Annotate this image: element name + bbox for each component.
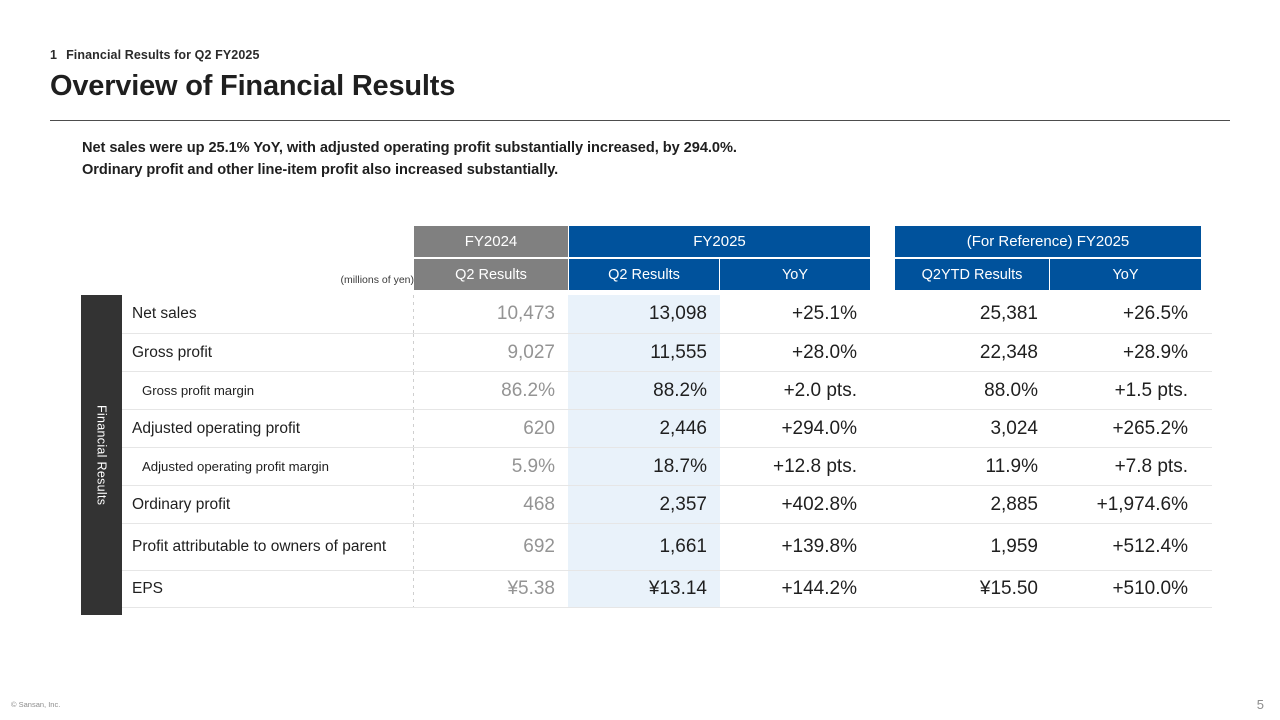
row-label: EPS: [122, 571, 413, 607]
table-row: Gross profit margin 86.2% 88.2% +2.0 pts…: [122, 371, 1212, 409]
table-row: Ordinary profit 468 2,357 +402.8% 2,885 …: [122, 485, 1212, 523]
cell-yoy: +12.8 pts.: [720, 448, 870, 485]
cell-ytd: ¥15.50: [895, 571, 1051, 607]
cell-yoy: +25.1%: [720, 295, 870, 333]
group-header-reference: (For Reference) FY2025: [895, 226, 1201, 257]
table-row: Net sales 10,473 13,098 +25.1% 25,381 +2…: [122, 295, 1212, 333]
slide-header: 1 Financial Results for Q2 FY2025 Overvi…: [50, 48, 1230, 101]
cell-ytd-yoy: +7.8 pts.: [1051, 448, 1201, 485]
table-row: EPS ¥5.38 ¥13.14 +144.2% ¥15.50 +510.0%: [122, 570, 1212, 608]
cell-ytd-yoy: +1.5 pts.: [1051, 372, 1201, 409]
row-label: Profit attributable to owners of parent: [122, 524, 413, 570]
cell-cur-q2: ¥13.14: [568, 571, 720, 607]
cell-ytd: 88.0%: [895, 372, 1051, 409]
cell-cur-q2: 13,098: [568, 295, 720, 333]
column-header-ytd-yoy: YoY: [1050, 259, 1201, 290]
cell-prev-q2: 468: [414, 486, 568, 523]
lead-line-2: Ordinary profit and other line-item prof…: [82, 159, 737, 181]
cell-prev-q2: 620: [414, 410, 568, 447]
row-label: Gross profit: [122, 334, 413, 371]
column-header-yoy: YoY: [720, 259, 870, 290]
footer-page-number: 5: [1257, 697, 1264, 712]
cell-ytd-yoy: +512.4%: [1051, 524, 1201, 570]
row-label: Adjusted operating profit margin: [122, 448, 413, 485]
lead-paragraph: Net sales were up 25.1% YoY, with adjust…: [82, 137, 737, 181]
cell-yoy: +28.0%: [720, 334, 870, 371]
table-row: Adjusted operating profit margin 5.9% 18…: [122, 447, 1212, 485]
cell-cur-q2: 11,555: [568, 334, 720, 371]
cell-cur-q2: 1,661: [568, 524, 720, 570]
table-group-header-row: FY2024 FY2025 (For Reference) FY2025: [122, 226, 1212, 257]
cell-prev-q2: 5.9%: [414, 448, 568, 485]
cell-ytd: 1,959: [895, 524, 1051, 570]
cell-prev-q2: 10,473: [414, 295, 568, 333]
row-label: Gross profit margin: [122, 372, 413, 409]
cell-prev-q2: ¥5.38: [414, 571, 568, 607]
table-row: Profit attributable to owners of parent …: [122, 523, 1212, 570]
cell-yoy: +402.8%: [720, 486, 870, 523]
row-label: Net sales: [122, 295, 413, 333]
group-header-fy2025: FY2025: [569, 226, 870, 257]
cell-prev-q2: 86.2%: [414, 372, 568, 409]
lead-line-1: Net sales were up 25.1% YoY, with adjust…: [82, 137, 737, 159]
section-side-tab-label: Financial Results: [95, 405, 109, 505]
units-note: (millions of yen): [340, 259, 414, 290]
section-side-tab: Financial Results: [81, 295, 122, 615]
row-label: Ordinary profit: [122, 486, 413, 523]
row-label: Adjusted operating profit: [122, 410, 413, 447]
cell-yoy: +144.2%: [720, 571, 870, 607]
cell-ytd: 2,885: [895, 486, 1051, 523]
cell-cur-q2: 88.2%: [568, 372, 720, 409]
footer-copyright: © Sansan, Inc.: [11, 700, 60, 709]
cell-cur-q2: 2,357: [568, 486, 720, 523]
financial-results-table: FY2024 FY2025 (For Reference) FY2025 (mi…: [122, 226, 1212, 618]
section-eyebrow: 1 Financial Results for Q2 FY2025: [50, 48, 1230, 62]
table-row: Gross profit 9,027 11,555 +28.0% 22,348 …: [122, 333, 1212, 371]
cell-ytd-yoy: +1,974.6%: [1051, 486, 1201, 523]
cell-ytd-yoy: +28.9%: [1051, 334, 1201, 371]
cell-ytd-yoy: +26.5%: [1051, 295, 1201, 333]
column-header-prev-q2: Q2 Results: [414, 259, 568, 290]
table-row: Adjusted operating profit 620 2,446 +294…: [122, 409, 1212, 447]
cell-prev-q2: 9,027: [414, 334, 568, 371]
title-divider: [50, 120, 1230, 121]
group-header-fy2024: FY2024: [414, 226, 568, 257]
cell-yoy: +2.0 pts.: [720, 372, 870, 409]
cell-prev-q2: 692: [414, 524, 568, 570]
table-body: Net sales 10,473 13,098 +25.1% 25,381 +2…: [122, 295, 1212, 608]
section-number: 1: [50, 48, 57, 62]
column-header-ytd: Q2YTD Results: [895, 259, 1049, 290]
cell-cur-q2: 18.7%: [568, 448, 720, 485]
table-column-header-row: (millions of yen) Q2 Results Q2 Results …: [122, 259, 1212, 290]
page-title: Overview of Financial Results: [50, 71, 1230, 101]
cell-ytd: 11.9%: [895, 448, 1051, 485]
cell-yoy: +294.0%: [720, 410, 870, 447]
section-label: Financial Results for Q2 FY2025: [66, 48, 259, 62]
column-header-cur-q2: Q2 Results: [569, 259, 719, 290]
cell-ytd: 22,348: [895, 334, 1051, 371]
cell-ytd-yoy: +265.2%: [1051, 410, 1201, 447]
cell-ytd-yoy: +510.0%: [1051, 571, 1201, 607]
cell-yoy: +139.8%: [720, 524, 870, 570]
cell-ytd: 3,024: [895, 410, 1051, 447]
cell-ytd: 25,381: [895, 295, 1051, 333]
cell-cur-q2: 2,446: [568, 410, 720, 447]
